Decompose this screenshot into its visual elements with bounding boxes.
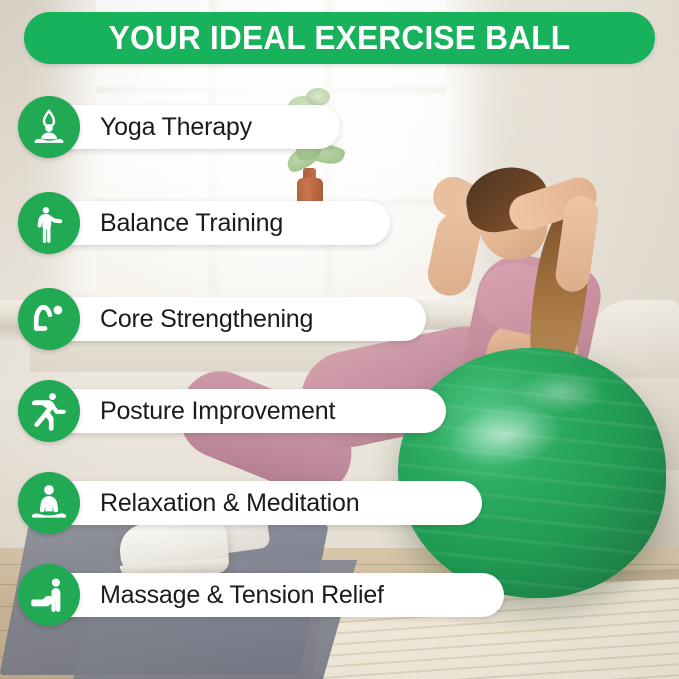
feature-label: Balance Training [100,209,283,238]
feature-label: Relaxation & Meditation [100,489,359,518]
feature-pill: Core Strengthening [66,297,426,341]
feature-row-posture-improvement[interactable]: Posture Improvement [18,380,446,442]
feature-label: Core Strengthening [100,305,313,334]
posture-stretch-icon [18,380,80,442]
overlay-graphics: YOUR IDEAL EXERCISE BALL Yoga Therapy [0,0,679,679]
title-banner: YOUR IDEAL EXERCISE BALL [24,12,655,64]
feature-pill: Relaxation & Meditation [66,481,482,525]
feature-row-balance-training[interactable]: Balance Training [18,192,390,254]
feature-row-relaxation-meditation[interactable]: Relaxation & Meditation [18,472,482,534]
relaxation-lotus-icon [18,472,80,534]
yoga-meditation-icon [18,96,80,158]
page-title: YOUR IDEAL EXERCISE BALL [109,19,571,57]
core-crunch-icon [18,288,80,350]
feature-label: Yoga Therapy [100,113,252,142]
feature-row-yoga-therapy[interactable]: Yoga Therapy [18,96,340,158]
massage-therapy-icon [18,564,80,626]
feature-label: Massage & Tension Relief [100,581,384,610]
feature-pill: Yoga Therapy [66,105,340,149]
feature-label: Posture Improvement [100,397,335,426]
feature-pill: Posture Improvement [66,389,446,433]
balance-pose-icon [18,192,80,254]
product-infographic: YOUR IDEAL EXERCISE BALL Yoga Therapy [0,0,679,679]
feature-row-core-strengthening[interactable]: Core Strengthening [18,288,426,350]
feature-row-massage-tension-relief[interactable]: Massage & Tension Relief [18,564,504,626]
feature-pill: Massage & Tension Relief [66,573,504,617]
feature-pill: Balance Training [66,201,390,245]
